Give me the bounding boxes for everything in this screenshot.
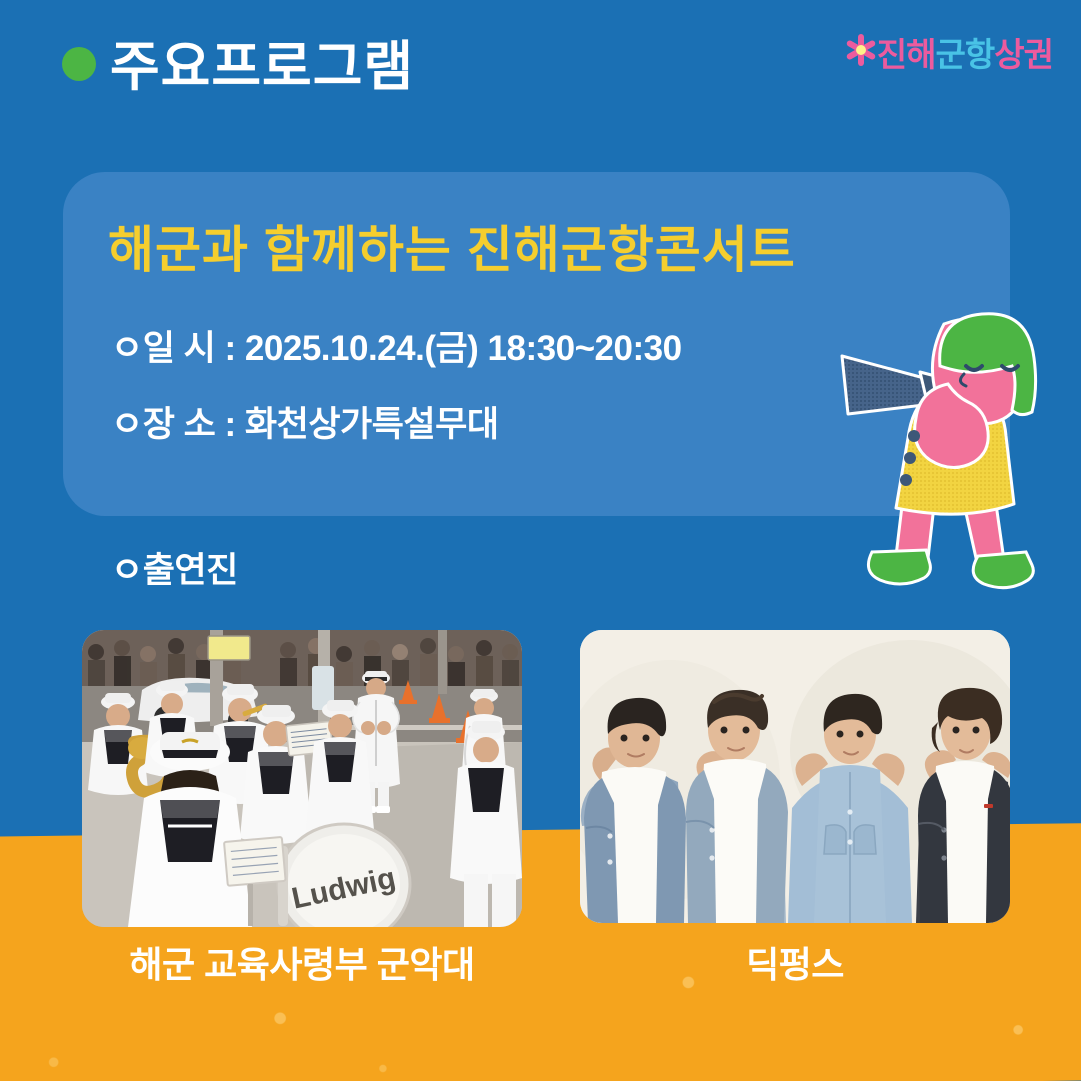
- caption-navy-band: 해군 교육사령부 군악대: [82, 936, 522, 988]
- brand-text-part3: 상권: [994, 36, 1053, 73]
- megaphone-girl-mascot: [836, 308, 1076, 598]
- event-title: 해군과 함께하는 진해군항콘서트: [108, 210, 796, 282]
- poster-root: 주요프로그램 진해군항상권 해군과 함께하는 진해군항콘서트 ㅇ일 시 : 20…: [0, 0, 1081, 1081]
- brand-logo: 진해군항상권: [845, 24, 1053, 84]
- event-datetime-line: ㅇ일 시 : 2025.10.24.(금) 18:30~20:30: [111, 320, 682, 371]
- navy-military-band-photo: Ludwig: [82, 630, 522, 927]
- caption-dickpunks: 딕펑스: [580, 936, 1010, 988]
- cast-section-label: ㅇ출연진: [111, 542, 238, 593]
- dickpunks-band-photo: [580, 630, 1010, 923]
- brand-logo-text: 진해군항상권: [877, 38, 1053, 71]
- brand-text-part1: 진해: [877, 36, 936, 73]
- poster-header: 주요프로그램 진해군항상권: [0, 0, 1081, 125]
- brand-text-part2: 군항: [936, 36, 995, 73]
- green-bullet-icon: [62, 47, 96, 81]
- page-title: 주요프로그램: [110, 22, 414, 101]
- event-venue-line: ㅇ장 소 : 화천상가특설무대: [111, 396, 499, 447]
- flower-asterisk-icon: [845, 34, 877, 66]
